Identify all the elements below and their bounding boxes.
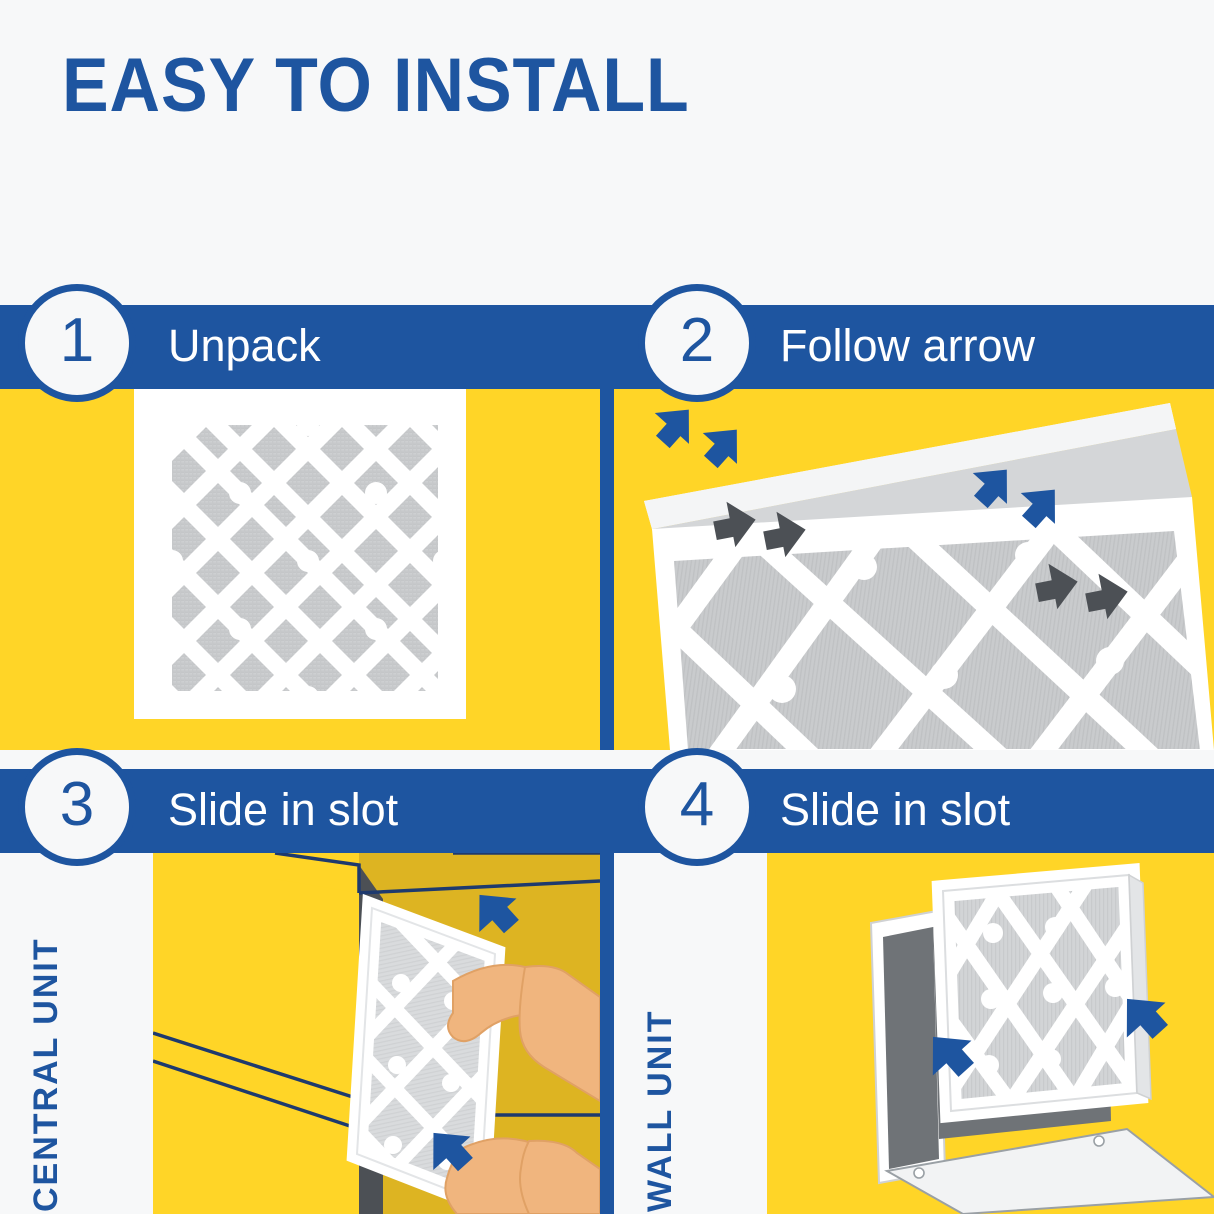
column-divider-row1: [600, 389, 614, 750]
step-1-number: 1: [25, 291, 129, 395]
step-4-label: Slide in slot: [780, 784, 1010, 836]
central-unit-insert-icon: [153, 853, 600, 1214]
step-4-number: 4: [645, 755, 749, 859]
steps-grid: Unpack 1: [0, 290, 1214, 1214]
column-divider-row2: [600, 853, 614, 1214]
infographic-page: EASY TO INSTALL: [0, 0, 1214, 1214]
step-2-number-badge: 2: [638, 284, 756, 402]
step-card-3[interactable]: CENTRAL UNIT Slide in slot 3: [0, 754, 600, 1214]
step-4-illustration: [767, 853, 1214, 1214]
wall-unit-insert-icon: [767, 853, 1214, 1214]
step-card-1[interactable]: Unpack 1: [0, 290, 600, 750]
column-divider-top: [600, 305, 614, 389]
step-4-unit-label: WALL UNIT: [641, 912, 680, 1212]
step-2-label: Follow arrow: [780, 320, 1035, 372]
step-3-number-badge: 3: [18, 748, 136, 866]
step-2-illustration: [614, 389, 1214, 750]
step-1-label: Unpack: [168, 320, 321, 372]
step-4-number-badge: 4: [638, 748, 756, 866]
step-card-2[interactable]: Follow arrow 2: [614, 290, 1214, 750]
step-3-illustration: [153, 853, 600, 1214]
step-3-unit-label-wrap: CENTRAL UNIT: [62, 866, 122, 1212]
air-filter-front-icon: [0, 389, 600, 750]
page-title: EASY TO INSTALL: [62, 48, 690, 124]
step-1-number-badge: 1: [18, 284, 136, 402]
step-3-unit-label: CENTRAL UNIT: [27, 912, 66, 1212]
step-1-illustration: [0, 389, 600, 750]
step-3-number: 3: [25, 755, 129, 859]
step-card-4[interactable]: WALL UNIT Slide in slot 4: [614, 754, 1214, 1214]
step-2-number: 2: [645, 291, 749, 395]
step-4-unit-label-wrap: WALL UNIT: [676, 866, 736, 1212]
column-divider-row2-bar: [600, 769, 614, 853]
air-filter-angled-icon: [614, 389, 1214, 750]
step-3-label: Slide in slot: [168, 784, 398, 836]
